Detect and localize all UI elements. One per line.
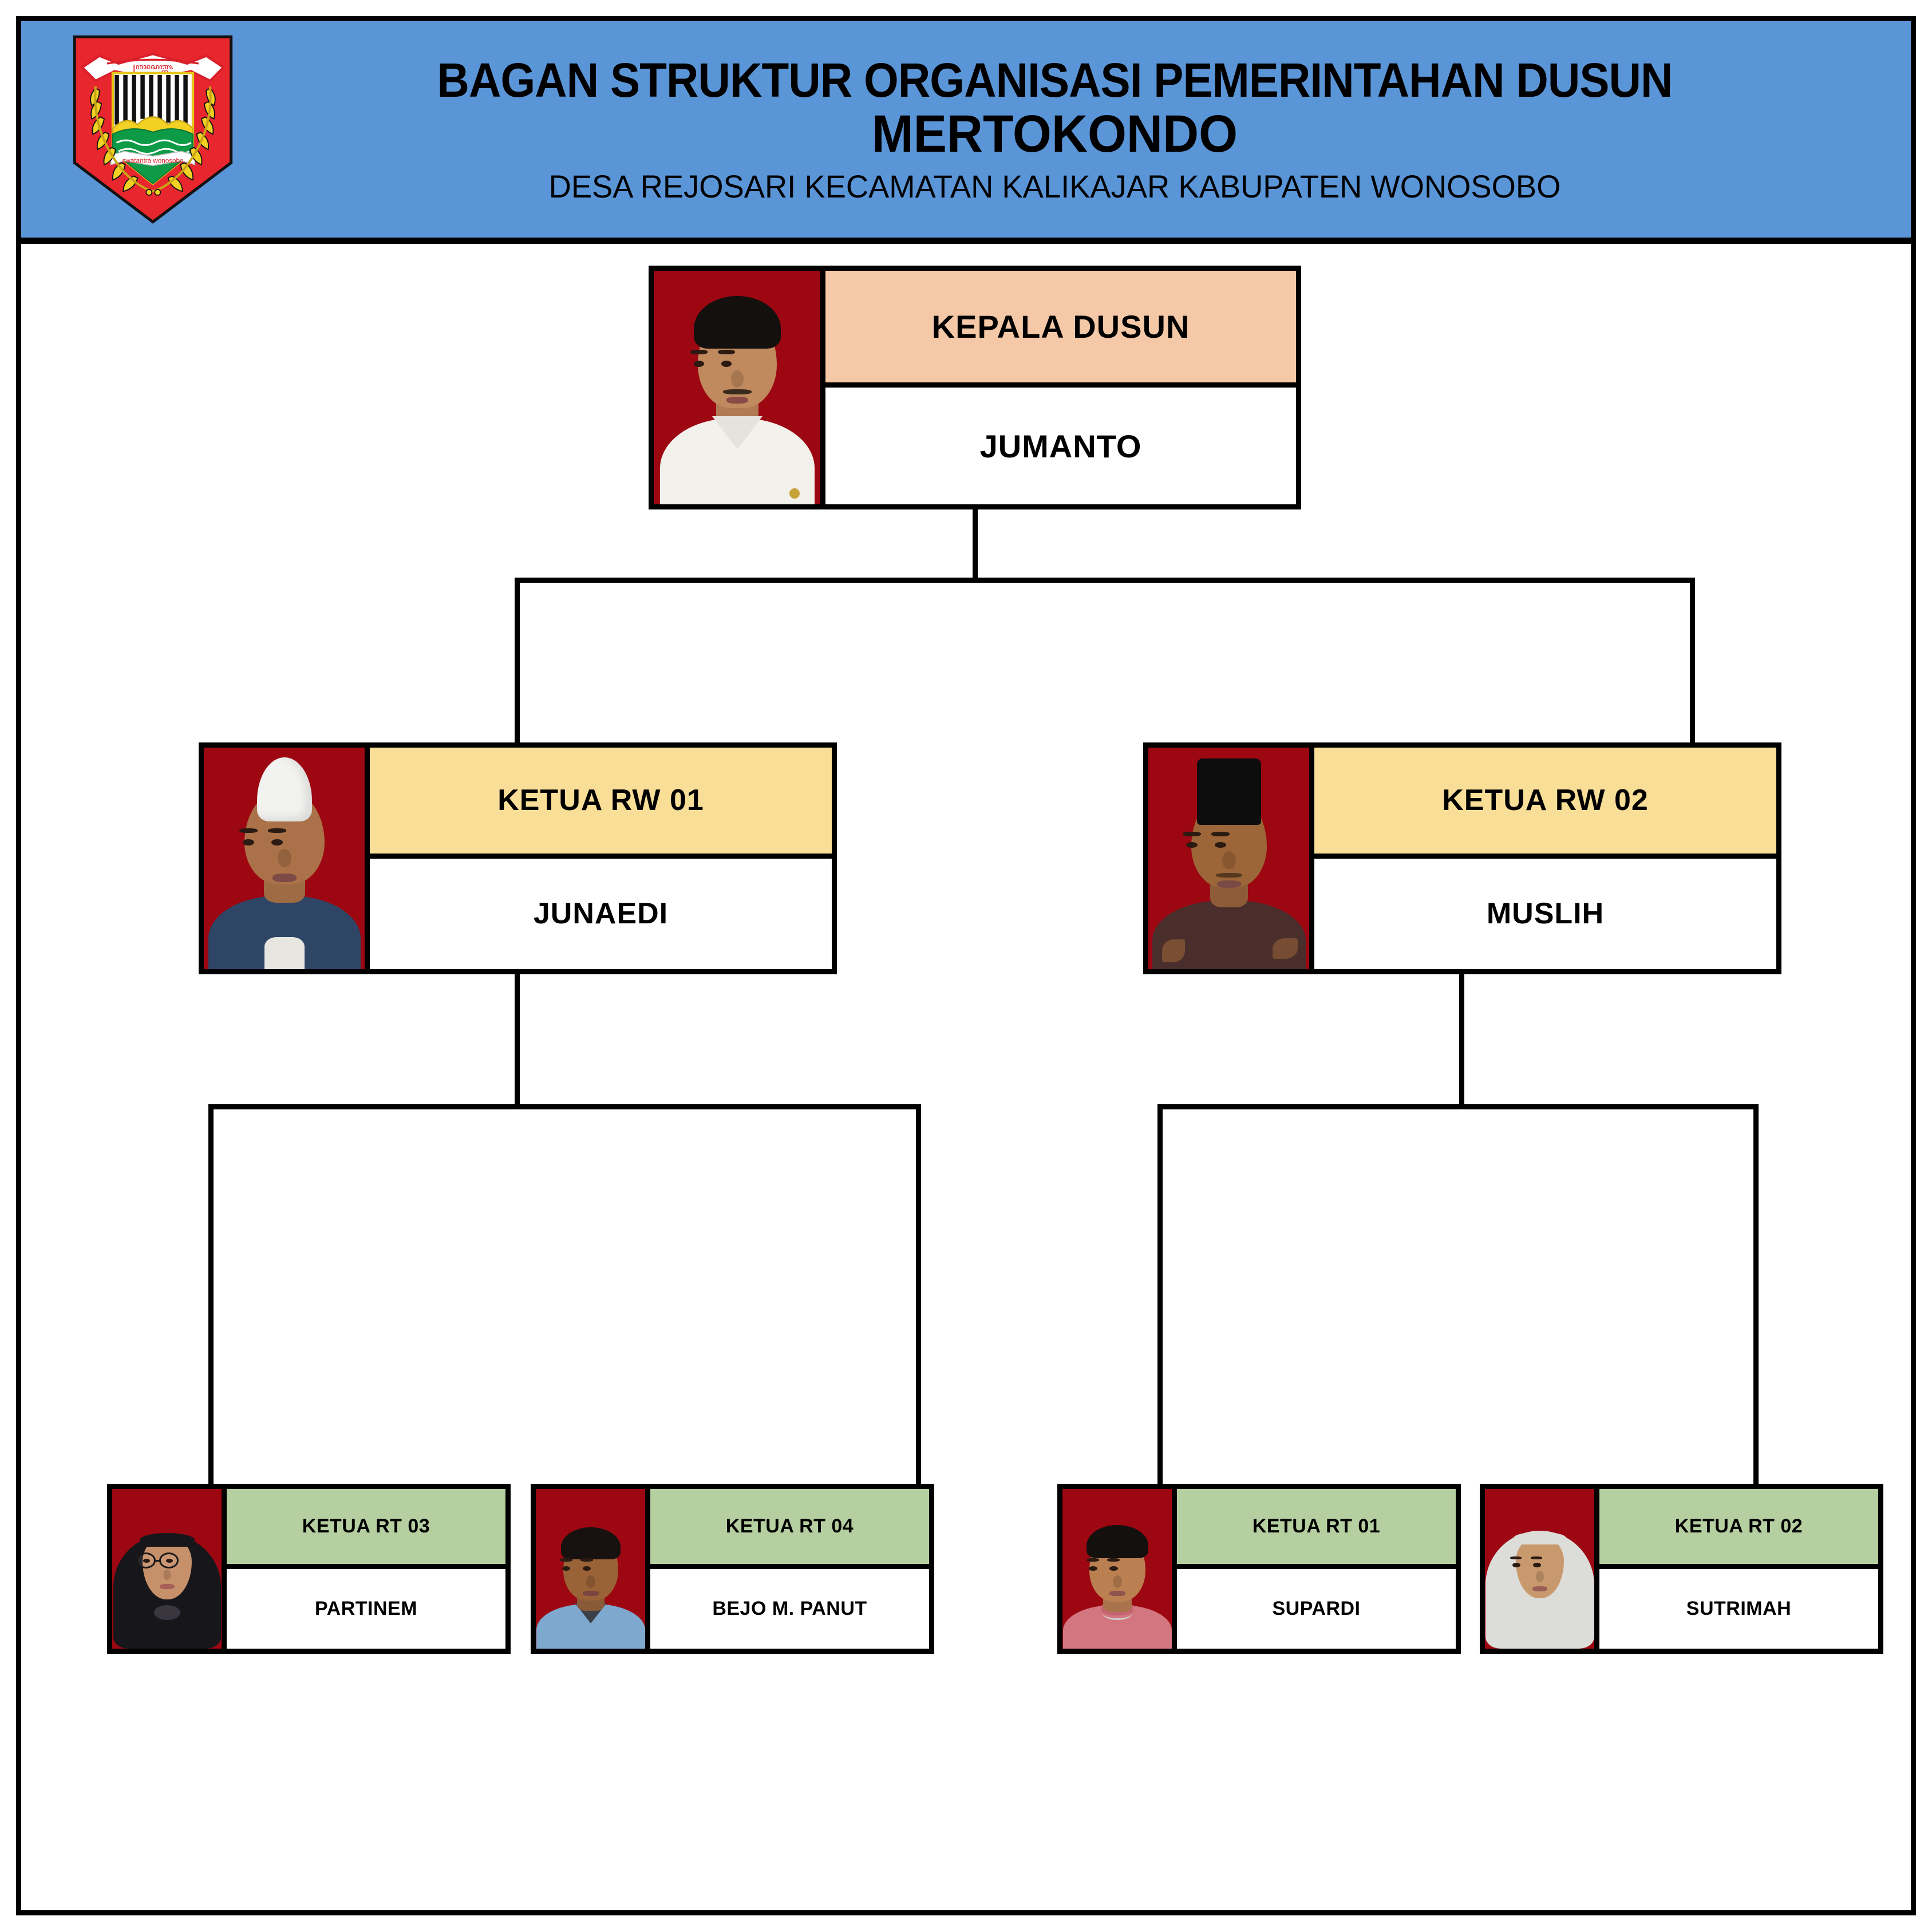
node-ketua-rt-02[interactable]: KETUA RT 02 SUTRIMAH <box>1480 1484 1883 1654</box>
photo-muslih <box>1148 748 1314 969</box>
photo-sutrimah <box>1485 1489 1599 1649</box>
photo-junaedi <box>204 748 370 969</box>
connector-rt01-drop <box>1157 1104 1163 1489</box>
node-fields: KETUA RT 03 PARTINEM <box>227 1489 505 1649</box>
node-name-label: JUMANTO <box>825 388 1296 504</box>
node-role-label: KETUA RW 01 <box>370 748 832 859</box>
header-text-block: BAGAN STRUKTUR ORGANISASI PEMERINTAHAN D… <box>285 56 1911 203</box>
node-name-label: PARTINEM <box>227 1569 505 1649</box>
org-chart-canvas: KEPALA DUSUN JUMANTO <box>21 244 1911 1910</box>
node-role-label: KETUA RW 02 <box>1314 748 1776 859</box>
connector-rw01-stem <box>515 974 520 1109</box>
node-role-label: KETUA RT 04 <box>650 1489 929 1569</box>
node-role-label: KEPALA DUSUN <box>825 271 1296 388</box>
photo-jumanto <box>654 271 825 504</box>
poster-title-line-2: MERTOKONDO <box>323 108 1786 160</box>
node-ketua-rt-03[interactable]: KETUA RT 03 PARTINEM <box>107 1484 511 1654</box>
node-kepala-dusun[interactable]: KEPALA DUSUN JUMANTO <box>649 266 1301 509</box>
node-name-label: SUTRIMAH <box>1599 1569 1878 1649</box>
node-ketua-rt-01[interactable]: KETUA RT 01 SUPARDI <box>1057 1484 1461 1654</box>
photo-bejo-m-panut <box>536 1489 650 1649</box>
connector-kadus-stem <box>973 509 978 580</box>
photo-partinem <box>112 1489 227 1649</box>
photo-supardi <box>1062 1489 1177 1649</box>
poster-title-line-1: BAGAN STRUKTUR ORGANISASI PEMERINTAHAN D… <box>338 56 1771 104</box>
node-fields: KETUA RT 04 BEJO M. PANUT <box>650 1489 929 1649</box>
node-role-label: KETUA RT 02 <box>1599 1489 1878 1569</box>
node-fields: KETUA RW 01 JUNAEDI <box>370 748 832 969</box>
node-fields: KETUA RW 02 MUSLIH <box>1314 748 1776 969</box>
connector-rt-bus-left <box>208 1104 921 1109</box>
organization-chart-poster: ꧋ꦮꦤꦱꦧ꧀ꦧ꧉ <box>0 0 1932 1932</box>
poster-header: ꧋ꦮꦤꦱꦧ꧀ꦧ꧉ <box>21 21 1911 244</box>
node-name-label: MUSLIH <box>1314 859 1776 970</box>
wonosobo-regency-emblem-icon: ꧋ꦮꦤꦱꦧ꧀ꦧ꧉ <box>53 29 253 230</box>
node-fields: KETUA RT 02 SUTRIMAH <box>1599 1489 1878 1649</box>
connector-rt04-drop <box>916 1104 921 1489</box>
connector-rw02-stem <box>1459 974 1464 1109</box>
node-name-label: BEJO M. PANUT <box>650 1569 929 1649</box>
node-name-label: JUNAEDI <box>370 859 832 970</box>
poster-frame: ꧋ꦮꦤꦱꦧ꧀ꦧ꧉ <box>16 16 1916 1915</box>
node-ketua-rw-02[interactable]: KETUA RW 02 MUSLIH <box>1143 742 1781 974</box>
connector-rw02-drop <box>1690 578 1695 742</box>
node-ketua-rw-01[interactable]: KETUA RW 01 JUNAEDI <box>199 742 837 974</box>
node-fields: KETUA RT 01 SUPARDI <box>1177 1489 1456 1649</box>
node-role-label: KETUA RT 03 <box>227 1489 505 1569</box>
node-fields: KEPALA DUSUN JUMANTO <box>825 271 1296 504</box>
connector-rw-bus <box>515 578 1695 583</box>
node-name-label: SUPARDI <box>1177 1569 1456 1649</box>
svg-text:swatantra wonosobo: swatantra wonosobo <box>123 157 184 164</box>
connector-rt02-drop <box>1753 1104 1759 1489</box>
connector-rt03-drop <box>208 1104 214 1489</box>
emblem-wrap: ꧋ꦮꦤꦱꦧ꧀ꦧ꧉ <box>21 18 285 241</box>
connector-rw01-drop <box>515 578 520 742</box>
node-role-label: KETUA RT 01 <box>1177 1489 1456 1569</box>
node-ketua-rt-04[interactable]: KETUA RT 04 BEJO M. PANUT <box>531 1484 934 1654</box>
connector-rt-bus-right <box>1157 1104 1759 1109</box>
poster-subtitle: DESA REJOSARI KECAMATAN KALIKAJAR KABUPA… <box>307 171 1801 203</box>
